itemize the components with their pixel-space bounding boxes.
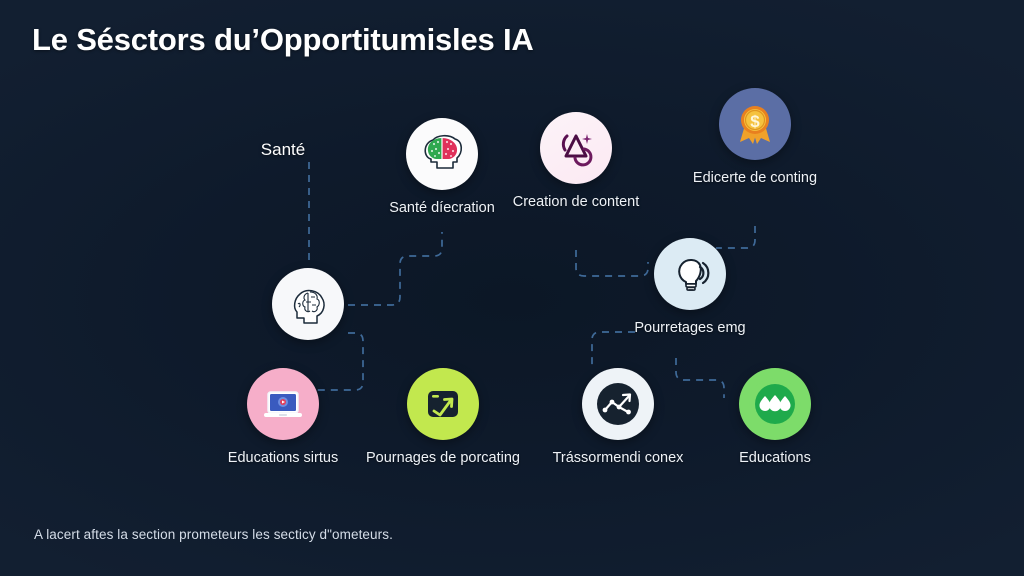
node-caption: Educations sirtus [198,449,368,467]
node-pourretages-emg[interactable]: Pourretages emg [605,238,775,337]
connector-lines [0,0,1024,576]
node-edicerte-de-conting[interactable]: $ Edicerte de conting [670,88,840,187]
lightbulb-signal-icon [654,238,726,310]
trend-nodes-circle-icon [582,368,654,440]
node-caption: Edicerte de conting [670,169,840,187]
connector-pourretages-to-trassormendi [592,332,635,368]
node-creation-de-content[interactable]: Creation de content [491,112,661,211]
chart-growth-window-icon [407,368,479,440]
node-trassormendi-conex[interactable]: Trássormendi conex [533,368,703,467]
node-educations[interactable]: Educations [690,368,860,467]
sante-label: Santé [193,140,373,160]
node-educations-sirtus[interactable]: Educations sirtus [198,368,368,467]
laptop-media-icon [247,368,319,440]
slide-canvas: Le Sésctors du’Opportitumisles IA Santé [0,0,1024,576]
node-caption: Creation de content [491,193,661,211]
footer-note: A lacert aftes la section prometeurs les… [34,527,393,542]
node-pournages-de-porcating[interactable]: Pournages de porcating [358,368,528,467]
node-center-brain[interactable] [223,268,393,340]
brain-head-icon [406,118,478,190]
node-caption: Educations [690,449,860,467]
sparkle-triangle-icon [540,112,612,184]
node-caption: Trássormendi conex [533,449,703,467]
node-caption: Pournages de porcating [358,449,528,467]
head-brain-outline-icon [272,268,344,340]
water-drops-icon [739,368,811,440]
svg-text:$: $ [750,112,760,131]
award-dollar-icon: $ [719,88,791,160]
node-caption: Pourretages emg [605,319,775,337]
